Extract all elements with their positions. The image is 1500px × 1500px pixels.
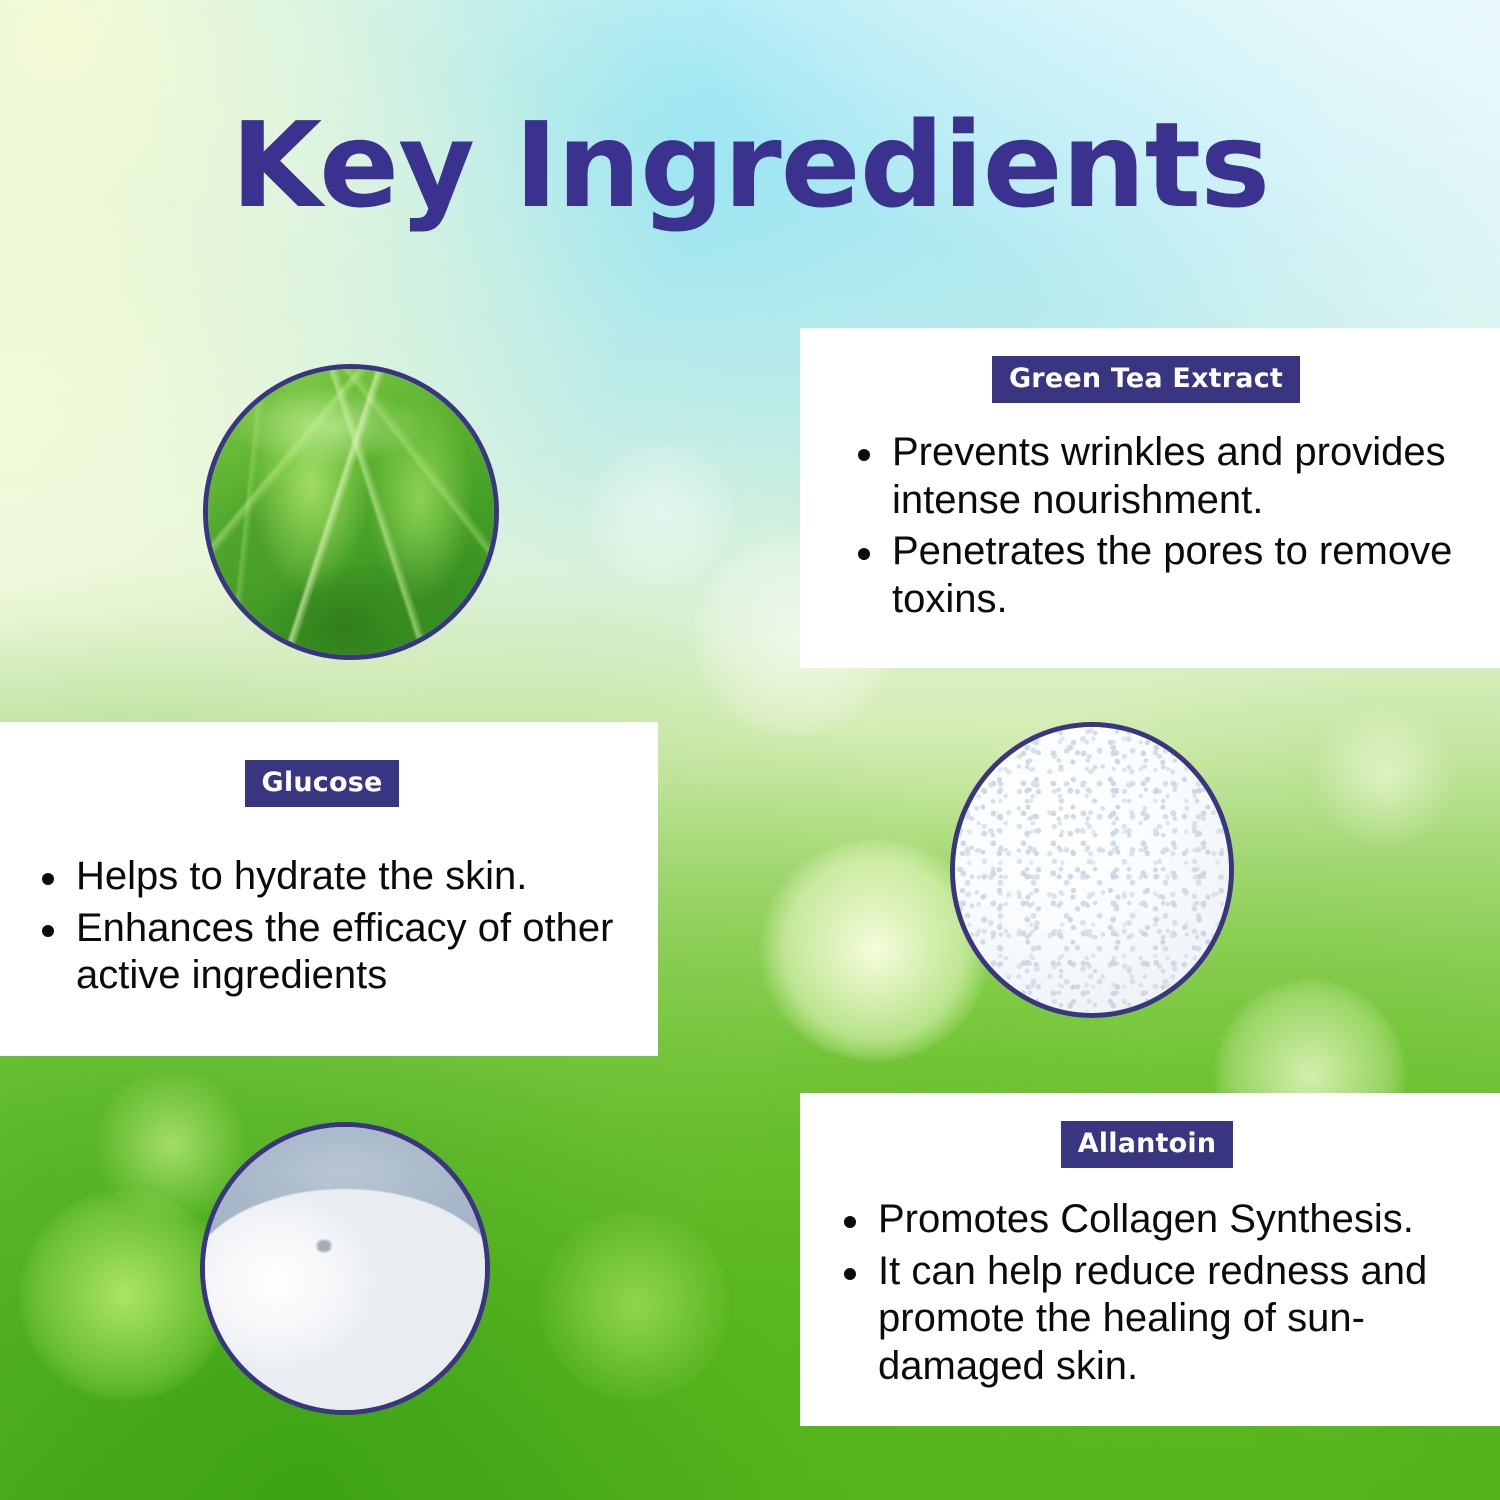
sugar-crystal-texture — [955, 727, 1229, 1013]
list-item: It can help reduce redness and promote t… — [842, 1248, 1486, 1391]
glucose-image — [950, 722, 1234, 1018]
list-item: Penetrates the pores to remove toxins. — [856, 528, 1490, 623]
page-title: Key Ingredients — [0, 104, 1500, 228]
allantoin-image — [200, 1122, 490, 1415]
badge-row: Green Tea Extract — [800, 356, 1500, 403]
bokeh-circle — [586, 440, 736, 590]
ingredient-name-badge: Allantoin — [1061, 1121, 1234, 1168]
ingredient-name-badge: Green Tea Extract — [992, 356, 1300, 403]
bokeh-circle — [1310, 700, 1460, 850]
benefit-list: Promotes Collagen Synthesis. It can help… — [800, 1196, 1500, 1390]
list-item: Helps to hydrate the skin. — [40, 853, 638, 901]
ingredient-card-green-tea-extract: Green Tea Extract Prevents wrinkles and … — [800, 328, 1500, 668]
benefit-list: Prevents wrinkles and provides intense n… — [800, 429, 1500, 623]
key-ingredients-poster: Key Ingredients Green Tea Extract Preven… — [0, 0, 1500, 1500]
badge-row: Glucose — [0, 760, 658, 807]
powder-speck — [317, 1240, 331, 1252]
ingredient-card-allantoin: Allantoin Promotes Collagen Synthesis. I… — [800, 1093, 1500, 1426]
ingredient-name-badge: Glucose — [245, 760, 400, 807]
green-tea-leaf-veins — [208, 369, 494, 655]
list-item: Promotes Collagen Synthesis. — [842, 1196, 1486, 1244]
green-tea-image — [203, 364, 499, 660]
ingredient-card-glucose: Glucose Helps to hydrate the skin. Enhan… — [0, 722, 658, 1056]
list-item: Prevents wrinkles and provides intense n… — [856, 429, 1490, 524]
list-item: Enhances the efficacy of other active in… — [40, 905, 638, 1000]
bokeh-circle — [20, 1190, 230, 1400]
badge-row: Allantoin — [800, 1121, 1500, 1168]
benefit-list: Helps to hydrate the skin. Enhances the … — [0, 853, 658, 1000]
powder-heap — [200, 1189, 490, 1415]
bokeh-circle — [540, 1210, 730, 1400]
